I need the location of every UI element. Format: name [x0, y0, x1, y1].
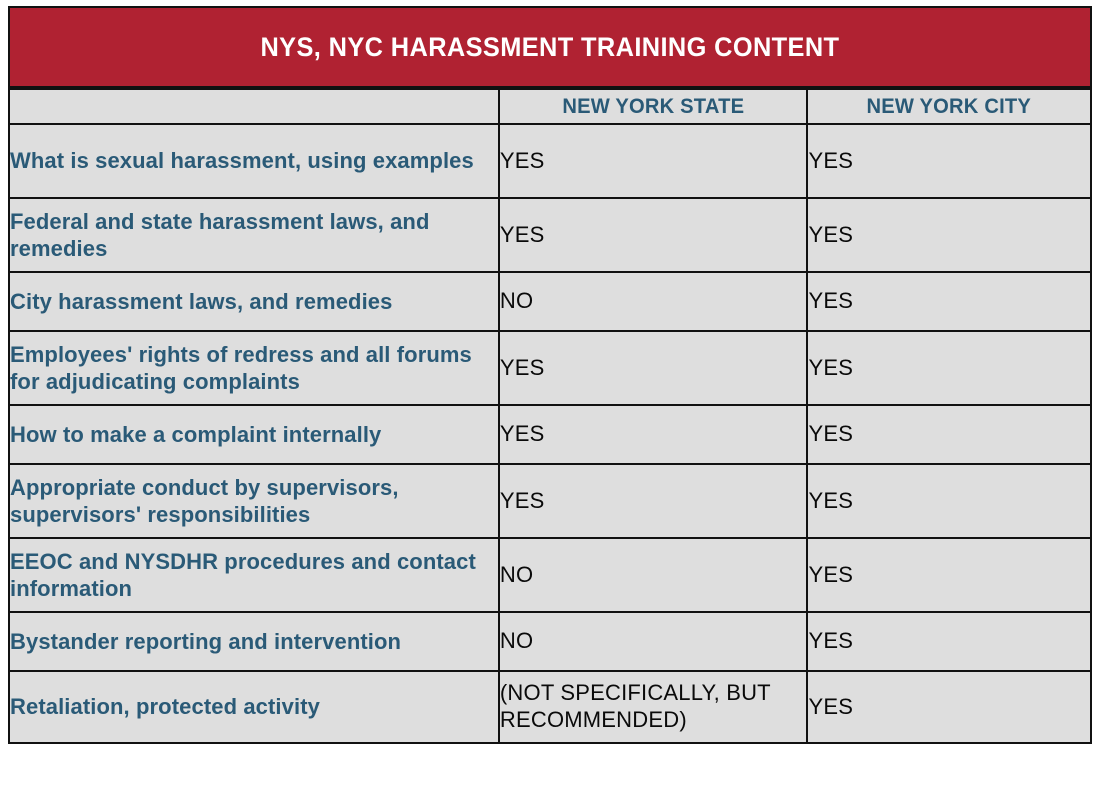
row-value-city: YES — [807, 612, 1091, 671]
row-topic: Federal and state harassment laws, and r… — [9, 198, 499, 272]
table-row: Retaliation, protected activity (NOT SPE… — [9, 671, 1091, 743]
row-topic: City harassment laws, and remedies — [9, 272, 499, 331]
row-topic: What is sexual harassment, using example… — [9, 124, 499, 198]
row-value-city: YES — [807, 198, 1091, 272]
table-row: How to make a complaint internally YES Y… — [9, 405, 1091, 464]
row-value-city: YES — [807, 405, 1091, 464]
row-value-state: NO — [499, 612, 808, 671]
row-value-state: YES — [499, 405, 808, 464]
row-topic: Appropriate conduct by supervisors, supe… — [9, 464, 499, 538]
row-value-city: YES — [807, 538, 1091, 612]
row-value-city: YES — [807, 124, 1091, 198]
row-value-state: NO — [499, 272, 808, 331]
row-value-city: YES — [807, 272, 1091, 331]
row-topic: EEOC and NYSDHR procedures and contact i… — [9, 538, 499, 612]
row-value-state: (NOT SPECIFICALLY, BUT RECOMMENDED) — [499, 671, 808, 743]
comparison-table-sheet: NYS, NYC HARASSMENT TRAINING CONTENT NEW… — [0, 0, 1100, 797]
row-value-city: YES — [807, 464, 1091, 538]
column-header-new-york-state: NEW YORK STATE — [505, 89, 801, 124]
row-value-state: YES — [499, 198, 808, 272]
table-row: Federal and state harassment laws, and r… — [9, 198, 1091, 272]
row-topic: How to make a complaint internally — [9, 405, 499, 464]
row-topic: Bystander reporting and intervention — [9, 612, 499, 671]
row-value-state: YES — [499, 331, 808, 405]
row-value-city: YES — [807, 331, 1091, 405]
row-topic: Employees' rights of redress and all for… — [9, 331, 499, 405]
column-header-new-york-city: NEW YORK CITY — [813, 89, 1085, 124]
row-value-state: NO — [499, 538, 808, 612]
row-value-state: YES — [499, 464, 808, 538]
page-title: NYS, NYC HARASSMENT TRAINING CONTENT — [261, 32, 840, 63]
title-banner: NYS, NYC HARASSMENT TRAINING CONTENT — [8, 6, 1092, 88]
table-row: Appropriate conduct by supervisors, supe… — [9, 464, 1091, 538]
table-header-row: NEW YORK STATE NEW YORK CITY — [9, 89, 1091, 124]
row-value-city: YES — [807, 671, 1091, 743]
column-header-topic — [9, 89, 499, 124]
table-row: What is sexual harassment, using example… — [9, 124, 1091, 198]
table-row: Bystander reporting and intervention NO … — [9, 612, 1091, 671]
table-row: EEOC and NYSDHR procedures and contact i… — [9, 538, 1091, 612]
table-row: Employees' rights of redress and all for… — [9, 331, 1091, 405]
row-topic: Retaliation, protected activity — [9, 671, 499, 743]
table-body: What is sexual harassment, using example… — [9, 124, 1091, 743]
harassment-training-content-table: NEW YORK STATE NEW YORK CITY What is sex… — [8, 88, 1092, 744]
row-value-state: YES — [499, 124, 808, 198]
table-row: City harassment laws, and remedies NO YE… — [9, 272, 1091, 331]
